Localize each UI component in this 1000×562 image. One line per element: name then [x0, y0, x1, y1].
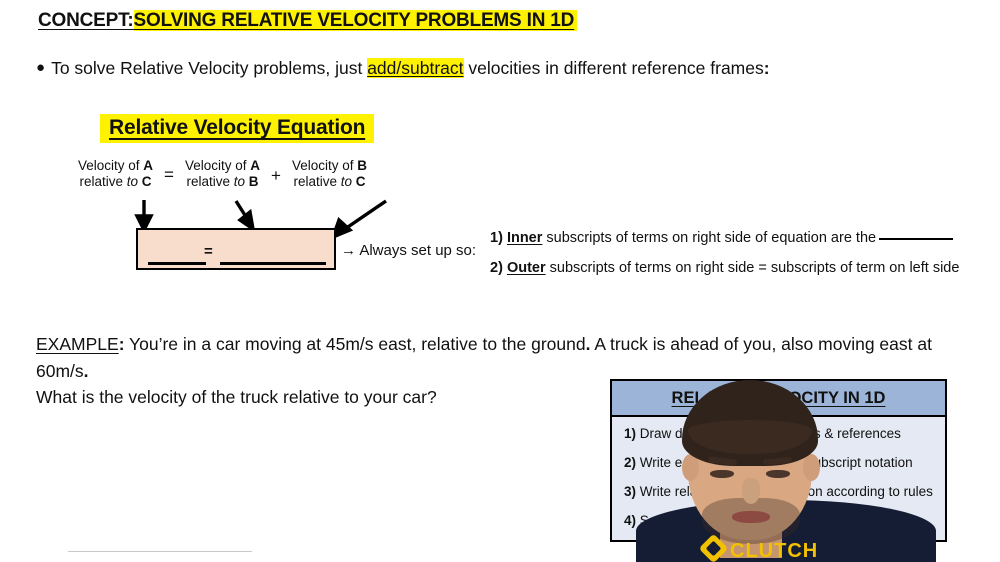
term-right-line2-symbol: C [356, 174, 366, 189]
relative-velocity-equation-heading: Relative Velocity Equation [100, 114, 374, 143]
example-label: EXAMPLE [36, 334, 119, 354]
page-title: CONCEPT:SOLVING RELATIVE VELOCITY PROBLE… [38, 10, 577, 32]
subscript-rules-list: 1) Inner subscripts of terms on right si… [490, 230, 959, 290]
rule-1-text: subscripts of terms on right side of equ… [542, 230, 876, 246]
procedure-box-header: RELATIVE VELOCITY IN 1D [612, 381, 945, 417]
procedure-box: RELATIVE VELOCITY IN 1D 1) Draw diagram,… [610, 379, 947, 542]
page-divider [68, 551, 252, 552]
concept-title-highlight: SOLVING RELATIVE VELOCITY PROBLEMS IN 1D [134, 10, 578, 31]
term-right-line2: relative to C [292, 174, 367, 190]
plus-operator: + [260, 166, 292, 187]
procedure-step-4: 4) Solve [624, 513, 945, 528]
equation-term-middle: Velocity of A relative to B [185, 158, 260, 191]
rule-2-keyword: Outer [507, 260, 546, 276]
intro-colon: : [764, 58, 770, 78]
equation-term-right: Velocity of B relative to C [292, 158, 367, 191]
term-left-line2-prefix: relative [79, 174, 126, 189]
term-middle-line2: relative to B [185, 174, 260, 190]
blank-equation-equals: = [204, 243, 213, 260]
procedure-step-3: 3) Write relative velocity equation acco… [624, 484, 945, 499]
procedure-step-2: 2) Write each given velocity in subscrip… [624, 455, 945, 470]
equals-operator: = [153, 165, 185, 186]
blank-line-right [220, 262, 326, 265]
intro-bullet-line: ●To solve Relative Velocity problems, ju… [36, 58, 770, 79]
term-middle-line2-to: to [234, 174, 245, 189]
rule-item-inner: 1) Inner subscripts of terms on right si… [490, 230, 959, 246]
step-4-text: Solve [636, 513, 674, 528]
example-line2: What is the velocity of the truck relati… [36, 387, 437, 407]
step-1-number: 1) [624, 426, 636, 441]
rule-2-text: subscripts of terms on right side = subs… [546, 260, 960, 276]
relative-velocity-equation-terms: Velocity of A relative to C = Velocity o… [78, 158, 367, 191]
term-left-line2-to: to [127, 174, 138, 189]
procedure-step-1: 1) Draw diagram, identify objects & refe… [624, 426, 945, 441]
clutch-logo-text: CLUTCH [730, 540, 818, 562]
step-1-text: Draw diagram, identify objects & referen… [636, 426, 901, 441]
step-2-number: 2) [624, 455, 636, 470]
rule-2-number: 2) [490, 260, 503, 276]
always-set-up-note: → Always set up so: [341, 242, 476, 259]
procedure-box-title: RELATIVE VELOCITY IN 1D [672, 389, 886, 408]
add-subtract-highlight: add/subtract [367, 58, 463, 78]
rule-1-answer-blank [879, 238, 953, 240]
term-middle-line2-prefix: relative [186, 174, 233, 189]
concept-label: CONCEPT: [38, 10, 134, 31]
term-middle-line1-symbol: A [250, 158, 260, 173]
procedure-steps: 1) Draw diagram, identify objects & refe… [612, 417, 945, 528]
term-left-line2: relative to C [78, 174, 153, 190]
term-right-line2-to: to [341, 174, 352, 189]
term-right-line1-symbol: B [357, 158, 367, 173]
rule-item-outer: 2) Outer subscripts of terms on right si… [490, 260, 959, 276]
term-middle-line2-symbol: B [249, 174, 259, 189]
term-left-line1-symbol: A [143, 158, 153, 173]
example-period-2: . [84, 361, 89, 381]
intro-text-before: To solve Relative Velocity problems, jus… [51, 58, 362, 78]
blank-line-left [148, 262, 206, 265]
rule-1-keyword: Inner [507, 230, 542, 246]
step-2-text: Write each given velocity in subscript n… [636, 455, 913, 470]
bullet-icon: ● [36, 59, 45, 76]
example-line1: You’re in a car moving at 45m/s east, re… [125, 334, 586, 354]
term-right-line2-prefix: relative [293, 174, 340, 189]
term-left-line1-prefix: Velocity of [78, 158, 143, 173]
step-4-number: 4) [624, 513, 636, 528]
term-middle-line1-prefix: Velocity of [185, 158, 250, 173]
intro-text-after: velocities in different reference frames [468, 58, 763, 78]
term-right-line1-prefix: Velocity of [292, 158, 357, 173]
arrow-2-head [240, 212, 253, 229]
equation-term-left: Velocity of A relative to C [78, 158, 153, 191]
step-3-text: Write relative velocity equation accordi… [636, 484, 933, 499]
blank-equation-box: = [136, 228, 336, 270]
step-3-number: 3) [624, 484, 636, 499]
rule-1-number: 1) [490, 230, 503, 246]
term-left-line2-symbol: C [142, 174, 152, 189]
